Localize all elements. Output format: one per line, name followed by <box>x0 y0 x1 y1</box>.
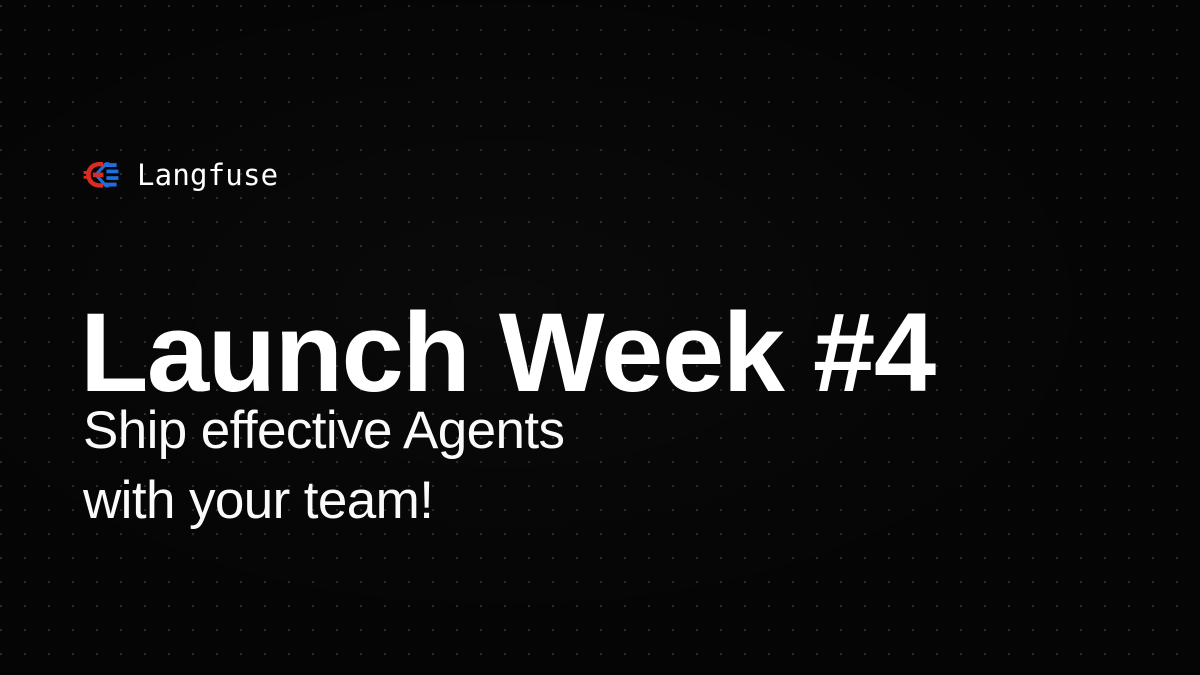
subtitle-line-2: with your team! <box>83 466 564 536</box>
brand-lockup: Langfuse <box>83 154 278 196</box>
launch-week-poster: Langfuse Launch Week #4 Ship effective A… <box>0 0 1200 675</box>
langfuse-logo-icon <box>83 160 121 190</box>
page-title: Launch Week #4 <box>80 297 935 409</box>
subtitle-line-1: Ship effective Agents <box>83 396 564 466</box>
brand-name: Langfuse <box>137 161 278 190</box>
subtitle: Ship effective Agents with your team! <box>83 396 564 536</box>
poster-content: Langfuse Launch Week #4 Ship effective A… <box>83 0 1143 675</box>
